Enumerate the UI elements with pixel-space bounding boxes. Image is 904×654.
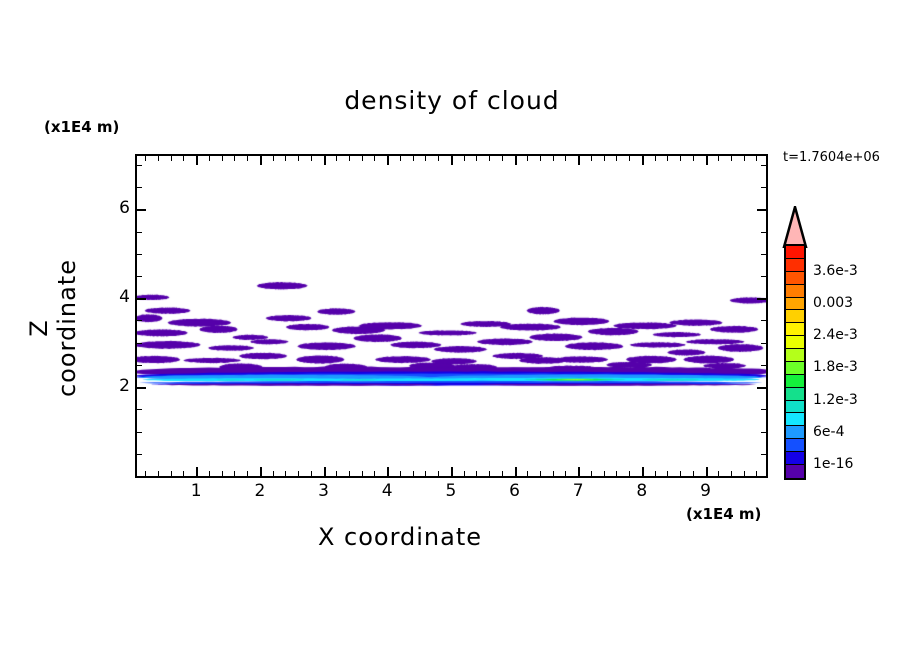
y-minor-tick	[137, 187, 142, 188]
x-major-tick	[451, 467, 453, 476]
time-stamp-annotation: t=1.7604e+06	[783, 150, 880, 165]
colorbar-tick-label: 1e-16	[813, 456, 853, 472]
y-minor-tick	[137, 320, 142, 321]
colorbar-tick-label: 1.8e-3	[813, 359, 858, 375]
colorbar	[784, 244, 806, 480]
colorbar-band	[786, 362, 804, 375]
x-minor-tick	[285, 471, 286, 476]
x-minor-tick	[349, 471, 350, 476]
x-minor-tick	[374, 156, 375, 161]
x-minor-tick	[362, 471, 363, 476]
x-tick-label: 7	[558, 481, 598, 501]
x-minor-tick	[604, 156, 605, 161]
x-minor-tick	[145, 156, 146, 161]
y-minor-tick	[137, 343, 142, 344]
y-minor-tick	[137, 432, 142, 433]
x-minor-tick	[476, 156, 477, 161]
x-minor-tick	[425, 156, 426, 161]
y-minor-tick	[761, 165, 766, 166]
x-minor-tick	[680, 156, 681, 161]
x-minor-tick	[336, 156, 337, 161]
colorbar-tick-label: 0.003	[813, 295, 853, 311]
contour-field	[137, 156, 766, 476]
x-minor-tick	[565, 471, 566, 476]
x-axis-unit-label: (x1E4 m)	[686, 505, 761, 523]
x-minor-tick	[591, 471, 592, 476]
x-minor-tick	[540, 471, 541, 476]
y-major-tick	[137, 387, 146, 389]
y-minor-tick	[761, 187, 766, 188]
x-minor-tick	[425, 471, 426, 476]
y-tick-label: 4	[100, 287, 130, 307]
x-minor-tick	[464, 156, 465, 161]
y-axis-title: Z coordinate	[25, 248, 81, 408]
x-minor-tick	[464, 471, 465, 476]
colorbar-band	[786, 298, 804, 311]
x-minor-tick	[400, 471, 401, 476]
y-minor-tick	[761, 343, 766, 344]
y-tick-label: 6	[100, 198, 130, 218]
x-tick-label: 9	[686, 481, 726, 501]
x-minor-tick	[171, 156, 172, 161]
x-minor-tick	[336, 471, 337, 476]
x-major-tick	[324, 156, 326, 165]
x-minor-tick	[718, 471, 719, 476]
y-minor-tick	[761, 365, 766, 366]
colorbar-tick-label: 3.6e-3	[813, 263, 858, 279]
x-minor-tick	[209, 156, 210, 161]
colorbar-tick-label: 2.4e-3	[813, 327, 858, 343]
y-minor-tick	[761, 232, 766, 233]
x-tick-label: 6	[495, 481, 535, 501]
x-minor-tick	[527, 156, 528, 161]
x-tick-label: 3	[304, 481, 344, 501]
plot-area	[135, 154, 768, 478]
y-major-tick	[137, 209, 146, 211]
y-minor-tick	[137, 276, 142, 277]
x-major-tick	[515, 467, 517, 476]
x-minor-tick	[311, 156, 312, 161]
x-major-tick	[515, 156, 517, 165]
x-minor-tick	[285, 156, 286, 161]
y-axis-unit-label: (x1E4 m)	[44, 118, 119, 136]
colorbar-band	[786, 439, 804, 452]
y-major-tick	[137, 298, 146, 300]
x-major-tick	[260, 156, 262, 165]
x-minor-tick	[489, 156, 490, 161]
x-minor-tick	[222, 156, 223, 161]
x-major-tick	[578, 467, 580, 476]
y-minor-tick	[137, 165, 142, 166]
x-major-tick	[706, 156, 708, 165]
x-minor-tick	[604, 471, 605, 476]
colorbar-band	[786, 413, 804, 426]
colorbar-band	[786, 401, 804, 414]
x-minor-tick	[171, 471, 172, 476]
x-minor-tick	[655, 156, 656, 161]
y-major-tick	[757, 209, 766, 211]
colorbar-band	[786, 465, 804, 478]
colorbar-band	[786, 336, 804, 349]
x-minor-tick	[374, 471, 375, 476]
x-minor-tick	[234, 471, 235, 476]
x-tick-label: 2	[240, 481, 280, 501]
colorbar-band	[786, 388, 804, 401]
x-minor-tick	[247, 156, 248, 161]
x-tick-label: 4	[367, 481, 407, 501]
x-minor-tick	[298, 156, 299, 161]
x-minor-tick	[413, 471, 414, 476]
x-minor-tick	[158, 156, 159, 161]
x-minor-tick	[553, 471, 554, 476]
x-minor-tick	[693, 471, 694, 476]
x-minor-tick	[183, 156, 184, 161]
y-minor-tick	[137, 365, 142, 366]
colorbar-band	[786, 426, 804, 439]
colorbar-band	[786, 375, 804, 388]
x-minor-tick	[438, 471, 439, 476]
x-minor-tick	[616, 156, 617, 161]
y-minor-tick	[761, 276, 766, 277]
x-minor-tick	[247, 471, 248, 476]
x-major-tick	[387, 467, 389, 476]
x-minor-tick	[298, 471, 299, 476]
x-minor-tick	[209, 471, 210, 476]
x-minor-tick	[655, 471, 656, 476]
x-minor-tick	[680, 471, 681, 476]
x-minor-tick	[693, 156, 694, 161]
x-minor-tick	[744, 156, 745, 161]
x-minor-tick	[616, 471, 617, 476]
page-title: density of cloud	[0, 86, 904, 115]
x-minor-tick	[222, 471, 223, 476]
x-minor-tick	[756, 156, 757, 161]
colorbar-band	[786, 272, 804, 285]
y-minor-tick	[761, 454, 766, 455]
x-minor-tick	[591, 156, 592, 161]
x-minor-tick	[502, 156, 503, 161]
x-minor-tick	[183, 471, 184, 476]
y-minor-tick	[761, 409, 766, 410]
colorbar-arrow-icon	[782, 206, 808, 246]
x-minor-tick	[565, 156, 566, 161]
x-major-tick	[578, 156, 580, 165]
x-minor-tick	[629, 471, 630, 476]
y-minor-tick	[761, 254, 766, 255]
x-minor-tick	[731, 471, 732, 476]
colorbar-tick-label: 6e-4	[813, 424, 844, 440]
x-minor-tick	[667, 156, 668, 161]
colorbar-tick-label: 1.2e-3	[813, 392, 858, 408]
x-minor-tick	[273, 156, 274, 161]
x-minor-tick	[629, 156, 630, 161]
x-minor-tick	[744, 471, 745, 476]
y-minor-tick	[137, 409, 142, 410]
x-minor-tick	[731, 156, 732, 161]
x-major-tick	[387, 156, 389, 165]
x-minor-tick	[540, 156, 541, 161]
x-minor-tick	[400, 156, 401, 161]
colorbar-band	[786, 310, 804, 323]
y-minor-tick	[137, 454, 142, 455]
x-major-tick	[451, 156, 453, 165]
y-minor-tick	[761, 432, 766, 433]
x-major-tick	[706, 467, 708, 476]
x-minor-tick	[234, 156, 235, 161]
x-minor-tick	[273, 471, 274, 476]
x-minor-tick	[489, 471, 490, 476]
x-minor-tick	[349, 156, 350, 161]
x-major-tick	[324, 467, 326, 476]
y-minor-tick	[137, 232, 142, 233]
x-minor-tick	[667, 471, 668, 476]
x-tick-label: 8	[622, 481, 662, 501]
colorbar-band	[786, 259, 804, 272]
x-minor-tick	[756, 471, 757, 476]
x-minor-tick	[145, 471, 146, 476]
x-minor-tick	[476, 471, 477, 476]
colorbar-band	[786, 452, 804, 465]
x-axis-title: X coordinate	[205, 523, 595, 551]
x-minor-tick	[362, 156, 363, 161]
y-minor-tick	[761, 320, 766, 321]
x-minor-tick	[158, 471, 159, 476]
colorbar-band	[786, 285, 804, 298]
x-minor-tick	[311, 471, 312, 476]
x-minor-tick	[502, 471, 503, 476]
x-major-tick	[196, 467, 198, 476]
x-minor-tick	[438, 156, 439, 161]
y-major-tick	[757, 387, 766, 389]
colorbar-band	[786, 349, 804, 362]
x-tick-label: 5	[431, 481, 471, 501]
y-major-tick	[757, 298, 766, 300]
x-tick-label: 1	[176, 481, 216, 501]
y-tick-label: 2	[100, 376, 130, 396]
colorbar-band	[786, 323, 804, 336]
x-major-tick	[196, 156, 198, 165]
x-major-tick	[642, 156, 644, 165]
x-minor-tick	[718, 156, 719, 161]
y-minor-tick	[137, 254, 142, 255]
x-minor-tick	[413, 156, 414, 161]
x-major-tick	[642, 467, 644, 476]
x-minor-tick	[527, 471, 528, 476]
x-major-tick	[260, 467, 262, 476]
colorbar-band	[786, 246, 804, 259]
x-minor-tick	[553, 156, 554, 161]
